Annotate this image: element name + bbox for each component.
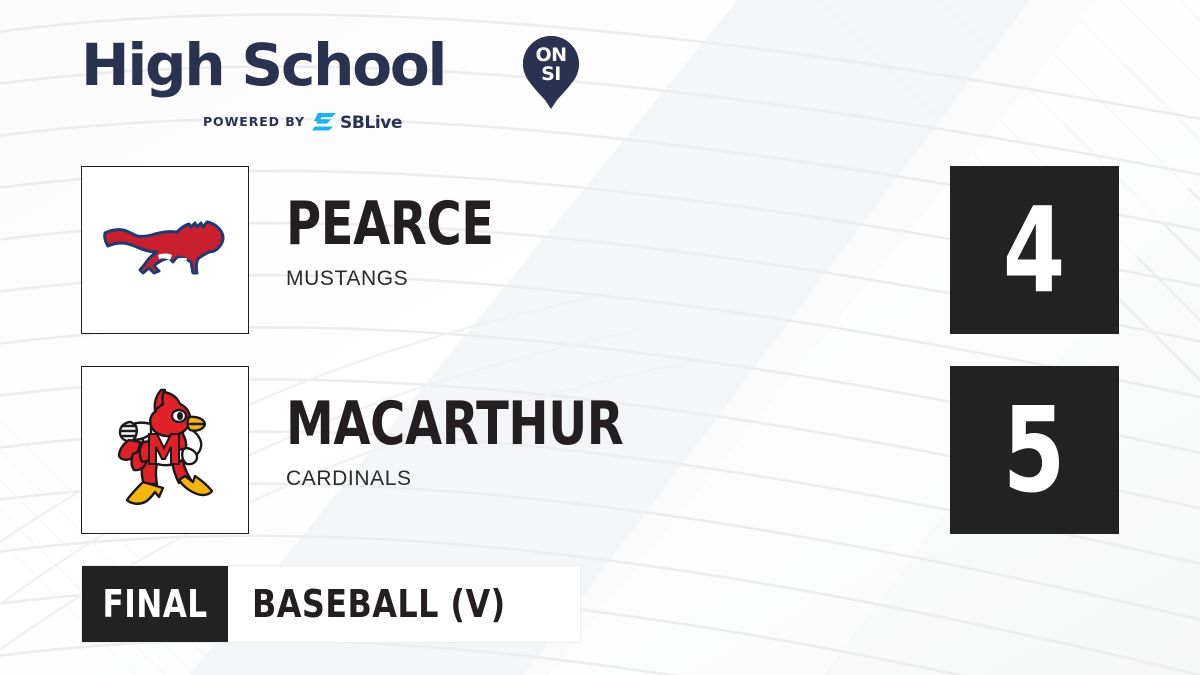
pin-line-2-text: SI: [541, 63, 561, 85]
team-row: PEARCE MUSTANGS 4: [81, 166, 1119, 334]
powered-by-label: POWERED BY: [203, 114, 305, 129]
team-name: PEARCE: [286, 194, 798, 254]
on-si-pin-icon: ON SI: [516, 30, 586, 115]
sblive-wordmark-text: SBLive: [340, 113, 402, 132]
sport-label: BASEBALL (V): [252, 585, 506, 623]
cardinal-mascot-logo-icon: [109, 384, 221, 516]
team-logo-box: [81, 166, 249, 334]
team-row: MACARTHUR CARDINALS 5: [81, 366, 1119, 534]
team-mascot: CARDINALS: [286, 467, 926, 491]
sblive-logo-icon: SBLive: [312, 110, 420, 132]
team-name: MACARTHUR: [286, 394, 798, 454]
mustang-logo-icon: [101, 210, 229, 290]
team-score: 4: [1003, 191, 1065, 309]
team-score-box: 5: [950, 366, 1119, 534]
brand-wordmark: High School: [81, 36, 511, 94]
brand-header: High School ON SI POWERED BY SBLive: [81, 36, 511, 136]
status-state-label: FINAL: [103, 585, 208, 623]
game-status-bar: FINAL BASEBALL (V): [81, 565, 581, 643]
sport-label-container: BASEBALL (V): [228, 566, 580, 642]
status-badge: FINAL: [82, 566, 228, 642]
powered-by-block: POWERED BY SBLive: [203, 110, 420, 132]
team-score: 5: [1003, 391, 1065, 509]
team-logo-box: [81, 366, 249, 534]
team-score-box: 4: [950, 166, 1119, 334]
team-text-block: MACARTHUR CARDINALS: [286, 394, 926, 491]
team-mascot: MUSTANGS: [286, 267, 926, 291]
team-text-block: PEARCE MUSTANGS: [286, 194, 926, 291]
